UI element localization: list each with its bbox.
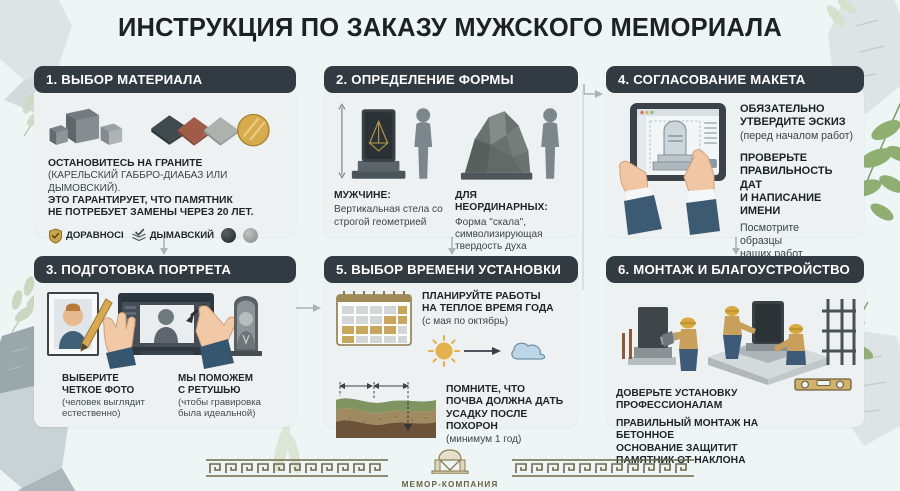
panel-3-col-2: МЫ ПОМОЖЕМ С РЕТУШЬЮ (чтобы гравировка б… <box>178 373 286 420</box>
panel-3-body-1b: естественно) <box>62 408 170 420</box>
granite-blocks-icon <box>48 101 124 151</box>
panel-6-line-2: ПРОФЕССИОНАЛАМ <box>616 400 788 412</box>
panel-3-heading-2b: С РЕТУШЬЮ <box>178 385 286 397</box>
panel-4-title: 4. СОГЛАСОВАНИЕ МАКЕТА <box>618 72 806 87</box>
panel-1-title: 1. ВЫБОР МАТЕРИАЛА <box>46 72 202 87</box>
tablet-in-hands-art <box>616 97 734 237</box>
rebar-grid-icon <box>822 299 856 365</box>
panel-2-col-2: ДЛЯ НЕОРДИНАРНЫХ: Форма "скала", символи… <box>455 190 568 253</box>
panel-5-title: 5. ВЫБОР ВРЕМЕНИ УСТАНОВКИ <box>336 262 561 277</box>
panel-2-artwork <box>334 99 568 185</box>
vertical-stele-art <box>334 101 449 185</box>
panel-3-captions: ВЫБЕРИТЕ ЧЕТКОЕ ФОТО (человек выглядит е… <box>44 373 286 420</box>
panel-5-body-1: (с мая по октябрь) <box>422 316 568 328</box>
panel-3-portrait: 3. ПОДГОТОВКА ПОРТРЕТА <box>34 256 296 427</box>
panel-5-timing: 5. ВЫБОР ВРЕМЕНИ УСТАНОВКИ <box>324 256 578 427</box>
granite-dot-dark <box>221 228 236 243</box>
panel-5-heading-2a: ПОМНИТЕ, ЧТО <box>446 384 568 396</box>
panel-4-text: ОБЯЗАТЕЛЬНО УТВЕРДИТЕ ЭСКИЗ (перед начал… <box>740 99 854 227</box>
panel-6-line-3: ПРАВИЛЬНЫЙ МОНТАЖ НА БЕТОННОЕ <box>616 418 788 443</box>
panel-5-heading-2c: УСАДКУ ПОСЛЕ ПОХОРОН <box>446 409 568 434</box>
panel-1-text: ОСТАНОВИТЕСЬ НА ГРАНИТЕ (КАРЕЛЬСКИЙ ГАББ… <box>44 158 286 220</box>
panel-2-body-2: Форма "скала", символизирующая твердость… <box>455 217 568 254</box>
panel-5-header: 5. ВЫБОР ВРЕМЕНИ УСТАНОВКИ <box>324 256 578 283</box>
panel-4-body-1: (перед началом работ) <box>740 130 854 143</box>
panel-1-body: ОСТАНОВИТЕСЬ НА ГРАНИТЕ (КАРЕЛЬСКИЙ ГАББ… <box>34 87 296 237</box>
soil-layers-icon <box>334 376 438 440</box>
footer: МЕМОР-КОМПАНИЯ <box>0 445 900 491</box>
badge-doravnost[interactable]: ДОРАВНОСІ <box>48 228 124 244</box>
panel-1-line-2: (КАРЕЛЬСКИЙ ГАББРО-ДИАБАЗ ИЛИ ДЫМОВСКИЙ)… <box>48 170 286 194</box>
panel-4-header: 4. СОГЛАСОВАНИЕ МАКЕТА <box>606 66 864 93</box>
panel-3-body-2b: была идеальной) <box>178 408 286 420</box>
panel-4-heading-1b: УТВЕРДИТЕ ЭСКИЗ <box>740 116 854 129</box>
panel-3-artwork <box>44 289 286 369</box>
badge-dymavskiy-label: ДЫМАВСКИЙ <box>150 230 214 241</box>
panel-1-badges: ДОРАВНОСІ ДЫМАВСКИЙ <box>44 228 286 244</box>
connector-panel3-to-panel6 <box>296 300 326 316</box>
panel-1-line-3: ЭТО ГАРАНТИРУЕТ, ЧТО ПАМЯТНИК <box>48 195 286 207</box>
panel-3-body: ВЫБЕРИТЕ ЧЕТКОЕ ФОТО (человек выглядит е… <box>34 277 296 427</box>
panel-2-heading-1: МУЖЧИНЕ: <box>334 190 447 202</box>
panel-4-approval: 4. СОГЛАСОВАНИЕ МАКЕТА <box>606 66 864 237</box>
panel-2-title: 2. ОПРЕДЕЛЕНИЕ ФОРМЫ <box>336 72 514 87</box>
panel-2-shape: 2. ОПРЕДЕЛЕНИЕ ФОРМЫ <box>324 66 578 237</box>
panel-4-heading-1a: ОБЯЗАТЕЛЬНО <box>740 103 854 116</box>
weather-sun-cloud-icons <box>422 333 568 369</box>
panel-1-header: 1. ВЫБОР МАТЕРИАЛА <box>34 66 296 93</box>
tile-samples-icon <box>148 101 286 151</box>
panel-2-body: МУЖЧИНЕ: Вертикальная стела со строгой г… <box>324 87 578 237</box>
panel-3-heading-1b: ЧЕТКОЕ ФОТО <box>62 385 170 397</box>
panel-4-heading-2b: ПРАВИЛЬНОСТЬ ДАТ <box>740 165 854 192</box>
panel-3-heading-2a: МЫ ПОМОЖЕМ <box>178 373 286 385</box>
cloud-icon <box>512 343 545 359</box>
panel-4-body-2a: Посмотрите образцы <box>740 222 823 248</box>
panel-6-header: 6. МОНТАЖ И БЛАГОУСТРОЙСТВО <box>606 256 864 283</box>
page-title: ИНСТРУКЦИЯ ПО ЗАКАЗУ МУЖСКОГО МЕМОРИАЛА <box>0 14 900 43</box>
panel-5-block-2: ПОМНИТЕ, ЧТО ПОЧВА ДОЛЖНА ДАТЬ УСАДКУ ПО… <box>334 376 568 446</box>
rock-form-art <box>451 101 568 185</box>
panel-6-body: ДОВЕРЬТЕ УСТАНОВКУ ПРОФЕССИОНАЛАМ ПРАВИЛ… <box>606 277 864 427</box>
panel-2-col-1: МУЖЧИНЕ: Вертикальная стела со строгой г… <box>334 190 447 253</box>
panel-2-captions: МУЖЧИНЕ: Вертикальная стела со строгой г… <box>334 190 568 253</box>
panel-3-heading-1a: ВЫБЕРИТЕ <box>62 373 170 385</box>
panel-2-header: 2. ОПРЕДЕЛЕНИЕ ФОРМЫ <box>324 66 578 93</box>
panel-4-heading-2a: ПРОВЕРЬТЕ <box>740 152 854 165</box>
panel-5-body: ПЛАНИРУЙТЕ РАБОТЫ НА ТЕПЛОЕ ВРЕМЯ ГОДА (… <box>324 277 578 427</box>
panel-2-body-1: Вертикальная стела со строгой геометрией <box>334 204 447 228</box>
panel-5-block-1: ПЛАНИРУЙТЕ РАБОТЫ НА ТЕПЛОЕ ВРЕМЯ ГОДА (… <box>334 289 568 374</box>
panel-6-title: 6. МОНТАЖ И БЛАГОУСТРОЙСТВО <box>618 262 850 277</box>
calendar-icon <box>334 289 414 347</box>
panel-6-line-1: ДОВЕРЬТЕ УСТАНОВКУ <box>616 388 788 400</box>
panel-1-line-4: НЕ ПОТРЕБУЕТ ЗАМЕНЫ ЧЕРЕЗ 20 ЛЕТ. <box>48 207 286 219</box>
panel-3-body-2a: (чтобы гравировка <box>178 397 286 409</box>
panel-6-artwork <box>616 289 854 386</box>
layers-check-icon <box>131 228 147 244</box>
page-title-text: ИНСТРУКЦИЯ ПО ЗАКАЗУ МУЖСКОГО МЕМОРИАЛА <box>0 14 900 43</box>
brand-name-text: МЕМОР-КОМПАНИЯ <box>402 480 499 489</box>
panel-4-heading-2c: И НАПИСАНИЕ ИМЕНИ <box>740 192 854 219</box>
panel-2-heading-2: ДЛЯ НЕОРДИНАРНЫХ: <box>455 190 568 215</box>
portrait-workflow-art <box>44 289 286 369</box>
connector-rail-right <box>580 90 586 326</box>
panel-3-body-1a: (человек выглядит <box>62 397 170 409</box>
panel-6-installation: 6. МОНТАЖ И БЛАГОУСТРОЙСТВО <box>606 256 864 427</box>
badge-doravnost-label: ДОРАВНОСІ <box>66 230 124 241</box>
shield-check-icon <box>48 228 63 244</box>
arrow-right-icon <box>464 347 501 355</box>
memorial-arch-logo-icon <box>427 448 473 474</box>
panel-1-material: 1. ВЫБОР МАТЕРИАЛА <box>34 66 296 237</box>
panel-5-heading-1a: ПЛАНИРУЙТЕ РАБОТЫ <box>422 291 568 303</box>
panel-3-col-1: ВЫБЕРИТЕ ЧЕТКОЕ ФОТО (человек выглядит е… <box>62 373 170 420</box>
hand-open-icon <box>103 313 136 370</box>
granite-dot-light <box>243 228 258 243</box>
badge-dymavskiy[interactable]: ДЫМАВСКИЙ <box>131 228 214 244</box>
workers-installing-art <box>616 289 856 385</box>
brand-logo: МЕМОР-КОМПАНИЯ <box>388 448 513 489</box>
panel-5-heading-1b: НА ТЕПЛОЕ ВРЕМЯ ГОДА <box>422 303 568 315</box>
infographic-canvas: ИНСТРУКЦИЯ ПО ЗАКАЗУ МУЖСКОГО МЕМОРИАЛА … <box>0 0 900 491</box>
panel-5-heading-2b: ПОЧВА ДОЛЖНА ДАТЬ <box>446 396 568 408</box>
material-swatches <box>44 99 286 151</box>
panel-4-body: ОБЯЗАТЕЛЬНО УТВЕРДИТЕ ЭСКИЗ (перед начал… <box>606 87 864 237</box>
panel-3-title: 3. ПОДГОТОВКА ПОРТРЕТА <box>46 262 231 277</box>
greek-key-border-left <box>206 459 388 477</box>
panel-3-header: 3. ПОДГОТОВКА ПОРТРЕТА <box>34 256 296 283</box>
greek-key-border-right <box>512 459 694 477</box>
sun-icon <box>429 336 459 366</box>
panel-5-body-2: (минимум 1 год) <box>446 434 568 446</box>
panel-1-line-1: ОСТАНОВИТЕСЬ НА ГРАНИТЕ <box>48 158 286 170</box>
